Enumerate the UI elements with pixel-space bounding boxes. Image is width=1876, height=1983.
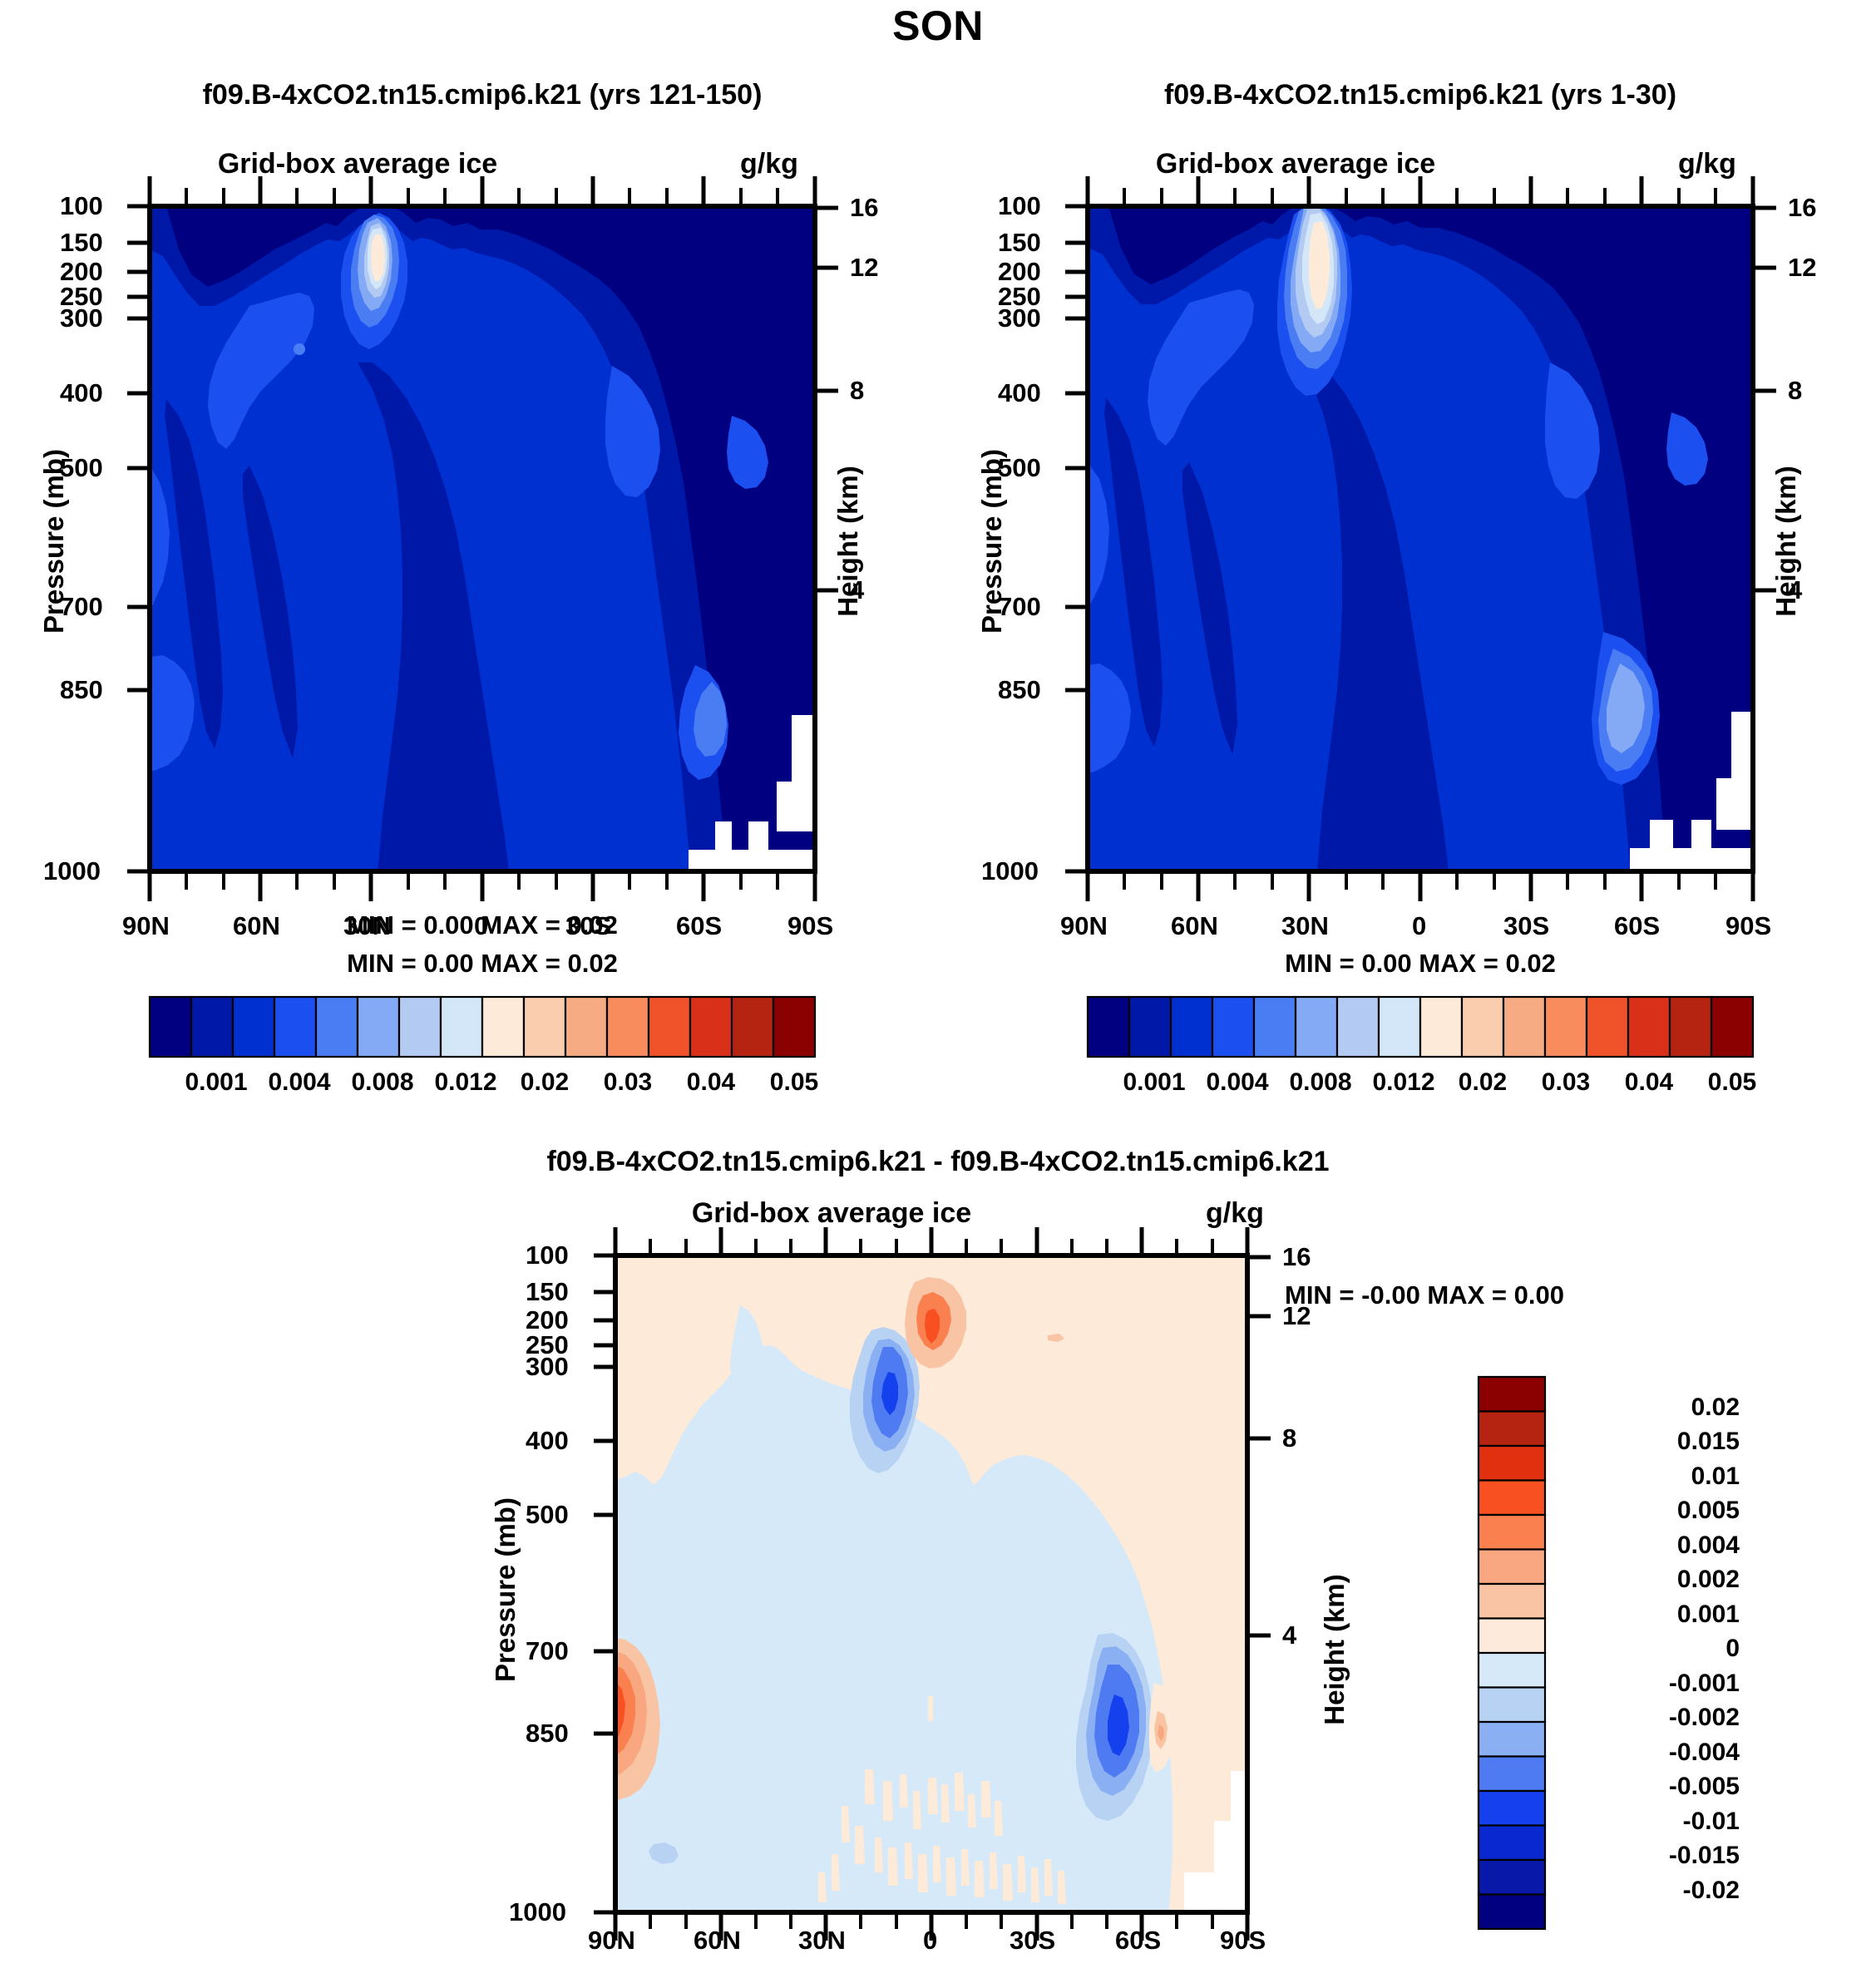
colorbar-swatch [1711,997,1753,1057]
x-tick-label: 60N [233,911,280,941]
colorbar-swatch [399,997,441,1057]
y-tick-label: 700 [60,592,103,622]
colorbar-swatch [1462,997,1503,1057]
colorbar-swatch [191,997,233,1057]
x-tick-label: 30S [1010,1926,1055,1956]
x-tick-label: 60N [694,1926,741,1956]
colorbar-swatch [773,997,815,1057]
colorbar-tick-label: 0.012 [1362,1068,1445,1097]
colorbar-swatch [1296,997,1337,1057]
contour-plot-top-left [0,0,938,981]
x-tick-label: 0 [923,1926,937,1956]
x-tick-label: 60S [1115,1926,1161,1956]
colorbar-tick-label: 0.015 [1590,1428,1740,1456]
colorbar-swatch [1479,1584,1545,1619]
y-tick-label: 100 [526,1241,569,1270]
x-tick-label: 90N [1060,911,1108,941]
colorbar-swatch [233,997,274,1057]
colorbar-tick-label: -0.015 [1590,1842,1740,1870]
x-tick-label: 90S [1220,1926,1266,1956]
y2-tick-label: 8 [1788,376,1802,406]
colorbar-swatch [1479,1653,1545,1688]
y2-tick-label: 16 [1282,1242,1311,1272]
colorbar-swatch [607,997,649,1057]
colorbar-swatch [1479,1722,1545,1757]
y-tick-label: 850 [60,675,103,705]
colorbar-swatch [649,997,690,1057]
panel-title-bottom: f09.B-4xCO2.tn15.cmip6.k21 - f09.B-4xCO2… [356,1146,1520,1178]
colorbar-swatch [1337,997,1379,1057]
colorbar-swatch [1420,997,1462,1057]
x-tick-label: 30S [565,911,611,941]
colorbar-swatch [482,997,524,1057]
y-tick-label: 150 [526,1277,569,1307]
colorbar-left-labels: 0.0010.0040.0080.0120.020.030.040.05 [0,1068,938,1110]
colorbar-tick-label: 0.001 [1590,1601,1740,1629]
x-tick-label: 60S [1614,911,1660,941]
colorbar-tick-label: 0.02 [1441,1068,1524,1097]
colorbar-tick-label: 0.01 [1590,1463,1740,1491]
colorbar-tick-label: -0.001 [1590,1670,1740,1698]
colorbar-tick-label: -0.01 [1590,1808,1740,1836]
x-tick-label: 30N [798,1926,846,1956]
colorbar-swatch [1479,1619,1545,1654]
y-tick-label: 300 [60,303,103,333]
colorbar-tick-label: -0.004 [1590,1739,1740,1767]
y2-tick-label: 12 [1282,1301,1311,1331]
colorbar-tick-label: 0.002 [1590,1566,1740,1594]
colorbar-swatch [1587,997,1628,1057]
y2-tick-label: 12 [850,253,878,283]
colorbar-swatch [1479,1860,1545,1895]
colorbar-tick-label: 0.02 [503,1068,586,1097]
y-tick-label: 700 [998,592,1041,622]
colorbar-swatch [565,997,607,1057]
colorbar-swatch [1479,1481,1545,1516]
y-tick-label: 150 [60,228,103,258]
colorbar-swatch [358,997,399,1057]
colorbar-swatch [441,997,482,1057]
colorbar-tick-label: 0.004 [1196,1068,1279,1097]
colorbar-swatch [274,997,316,1057]
y-tick-label: 1000 [981,856,1039,886]
x-tick-label: 0 [1412,911,1426,941]
colorbar-swatch [690,997,732,1057]
colorbar-swatch [1254,997,1296,1057]
colorbar-swatch [1129,997,1171,1057]
y-tick-label: 400 [998,378,1041,408]
y-tick-label: 1000 [509,1897,566,1927]
colorbar-tick-label: 0 [1590,1635,1740,1663]
x-tick-label: 90S [1725,911,1771,941]
x-tick-label: 30N [343,911,391,941]
x-tick-label: 90N [588,1926,635,1956]
colorbar-swatch [1171,997,1212,1057]
x-tick-label: 60N [1171,911,1218,941]
colorbar-swatch [1479,1515,1545,1550]
colorbar-swatch [1670,997,1711,1057]
colorbar-swatch [1479,1412,1545,1447]
colorbar-tick-label: 0.005 [1590,1497,1740,1525]
y-tick-label: 500 [998,453,1041,483]
colorbar-vertical-difference[interactable] [1470,1372,1587,1937]
colorbar-swatch [150,997,191,1057]
y-tick-label: 300 [526,1352,569,1382]
colorbar-tick-label: 0.04 [669,1068,753,1097]
colorbar-tick-label: 0.03 [1524,1068,1607,1097]
y-tick-label: 100 [60,191,103,221]
y-tick-label: 300 [998,303,1041,333]
colorbar-tick-label: 0.05 [753,1068,836,1097]
colorbar-swatch [1479,1826,1545,1861]
colorbar-tick-label: 0.02 [1590,1394,1740,1422]
colorbar-tick-label: -0.002 [1590,1704,1740,1732]
colorbar-swatch [1479,1377,1545,1412]
y2-tick-label: 4 [1282,1620,1296,1650]
y2-tick-label: 8 [1282,1423,1296,1453]
x-tick-label: 0 [474,911,488,941]
colorbar-right-labels: 0.0010.0040.0080.0120.020.030.040.05 [938,1068,1876,1110]
colorbar-horizontal-left[interactable] [0,994,938,1060]
y2-tick-label: 8 [850,376,864,406]
x-tick-label: 30S [1503,911,1549,941]
colorbar-tick-label: 0.004 [258,1068,341,1097]
colorbar-swatch [1503,997,1545,1057]
x-tick-label: 30N [1281,911,1329,941]
y2-tick-label: 4 [850,575,864,605]
colorbar-swatch [1379,997,1420,1057]
x-tick-label: 90N [122,911,170,941]
colorbar-swatch [1088,997,1129,1057]
colorbar-vertical-labels: 0.020.0150.010.0050.0040.0020.0010-0.001… [1590,1372,1806,1937]
y-tick-label: 700 [526,1636,569,1666]
x-tick-label: 60S [676,911,722,941]
colorbar-swatch [1479,1757,1545,1792]
y-tick-label: 400 [526,1426,569,1456]
colorbar-swatch [524,997,565,1057]
y-tick-label: 400 [60,378,103,408]
x-tick-label: 90S [787,911,833,941]
colorbar-swatch [732,997,773,1057]
colorbar-swatch [1628,997,1670,1057]
y-tick-label: 100 [998,191,1041,221]
colorbar-tick-label: 0.008 [1279,1068,1362,1097]
y2-tick-label: 16 [850,193,878,223]
y-tick-label: 500 [526,1500,569,1530]
colorbar-swatch [1479,1791,1545,1826]
colorbar-tick-label: 0.001 [175,1068,258,1097]
colorbar-swatch [316,997,358,1057]
colorbar-swatch [1479,1446,1545,1481]
colorbar-tick-label: 0.05 [1691,1068,1774,1097]
colorbar-tick-label: -0.02 [1590,1877,1740,1905]
colorbar-swatch [1212,997,1254,1057]
colorbar-swatch [1545,997,1587,1057]
colorbar-swatch [1479,1895,1545,1930]
minmax-top-left-text: MIN = 0.00 MAX = 0.02 [150,949,815,979]
colorbar-tick-label: 0.004 [1590,1532,1740,1560]
colorbar-tick-label: 0.008 [341,1068,424,1097]
y-tick-label: 150 [998,228,1041,258]
y2-tick-label: 12 [1788,253,1816,283]
colorbar-tick-label: 0.012 [424,1068,507,1097]
y2-tick-label: 4 [1788,575,1802,605]
colorbar-swatch [1479,1688,1545,1723]
colorbar-tick-label: 0.03 [586,1068,669,1097]
colorbar-tick-label: -0.005 [1590,1773,1740,1801]
contour-plot-top-right [938,0,1876,981]
minmax-top-right-text: MIN = 0.00 MAX = 0.02 [1088,949,1753,979]
y-tick-label: 1000 [43,856,101,886]
colorbar-tick-label: 0.001 [1113,1068,1196,1097]
y-tick-label: 850 [526,1719,569,1749]
y-tick-label: 850 [998,675,1041,705]
y2-tick-label: 16 [1788,193,1816,223]
y-tick-label: 500 [60,453,103,483]
colorbar-horizontal-right[interactable] [938,994,1876,1060]
colorbar-swatch [1479,1550,1545,1585]
colorbar-tick-label: 0.04 [1607,1068,1691,1097]
